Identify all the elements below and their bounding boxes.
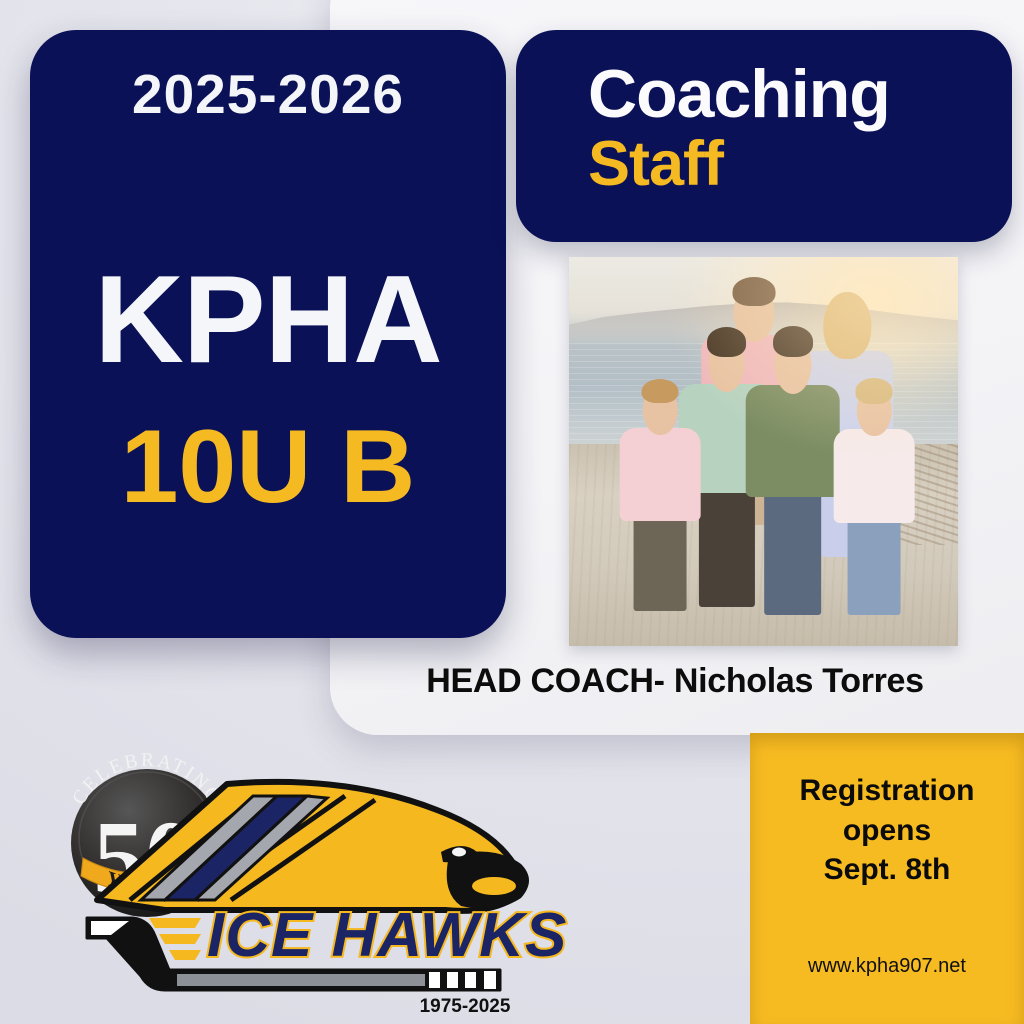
figure-hair — [642, 379, 679, 404]
photo-figure-child-2 — [756, 335, 830, 615]
logo-years-range: 1975-2025 — [420, 996, 511, 1017]
head-coach-caption: HEAD COACH- Nicholas Torres — [330, 662, 1020, 701]
division-label: 10U B — [30, 415, 506, 519]
figure-legs — [698, 487, 754, 607]
figure-hair — [823, 292, 870, 359]
figure-legs — [848, 518, 901, 614]
figure-hair — [773, 326, 813, 357]
team-info-card: 2025-2026 KPHA 10U B — [30, 30, 506, 638]
registration-panel: RegistrationopensSept. 8th www.kpha907.n… — [750, 733, 1024, 1024]
figure-hair — [732, 277, 775, 306]
season-label: 2025-2026 — [30, 62, 506, 126]
coaching-staff-title-line1: Coaching — [588, 60, 890, 128]
figure-hair — [707, 327, 747, 357]
head-coach-photo — [569, 257, 958, 646]
ice-hawks-logo: CELEBRATING 50 YEARS — [45, 740, 575, 1020]
organization-title: KPHA — [30, 258, 506, 382]
photo-figure-child-4 — [841, 385, 907, 615]
figure-legs — [634, 516, 687, 611]
figure-torso — [834, 429, 915, 523]
ice-hawks-wordmark: ICE HAWKS — [207, 901, 567, 970]
photo-figure-child-3 — [627, 385, 693, 611]
coaching-staff-header-card: Coaching Staff — [516, 30, 1012, 242]
figure-torso — [620, 428, 701, 520]
figure-torso — [745, 385, 840, 497]
head-coach-photo-frame — [569, 257, 958, 646]
figure-legs — [764, 492, 822, 615]
poster-canvas: 2025-2026 KPHA 10U B Coaching Staff — [0, 0, 1024, 1024]
coaching-staff-title-line2: Staff — [588, 133, 723, 196]
figure-hair — [856, 378, 893, 403]
registration-url[interactable]: www.kpha907.net — [750, 955, 1024, 978]
registration-headline: RegistrationopensSept. 8th — [764, 771, 1010, 890]
